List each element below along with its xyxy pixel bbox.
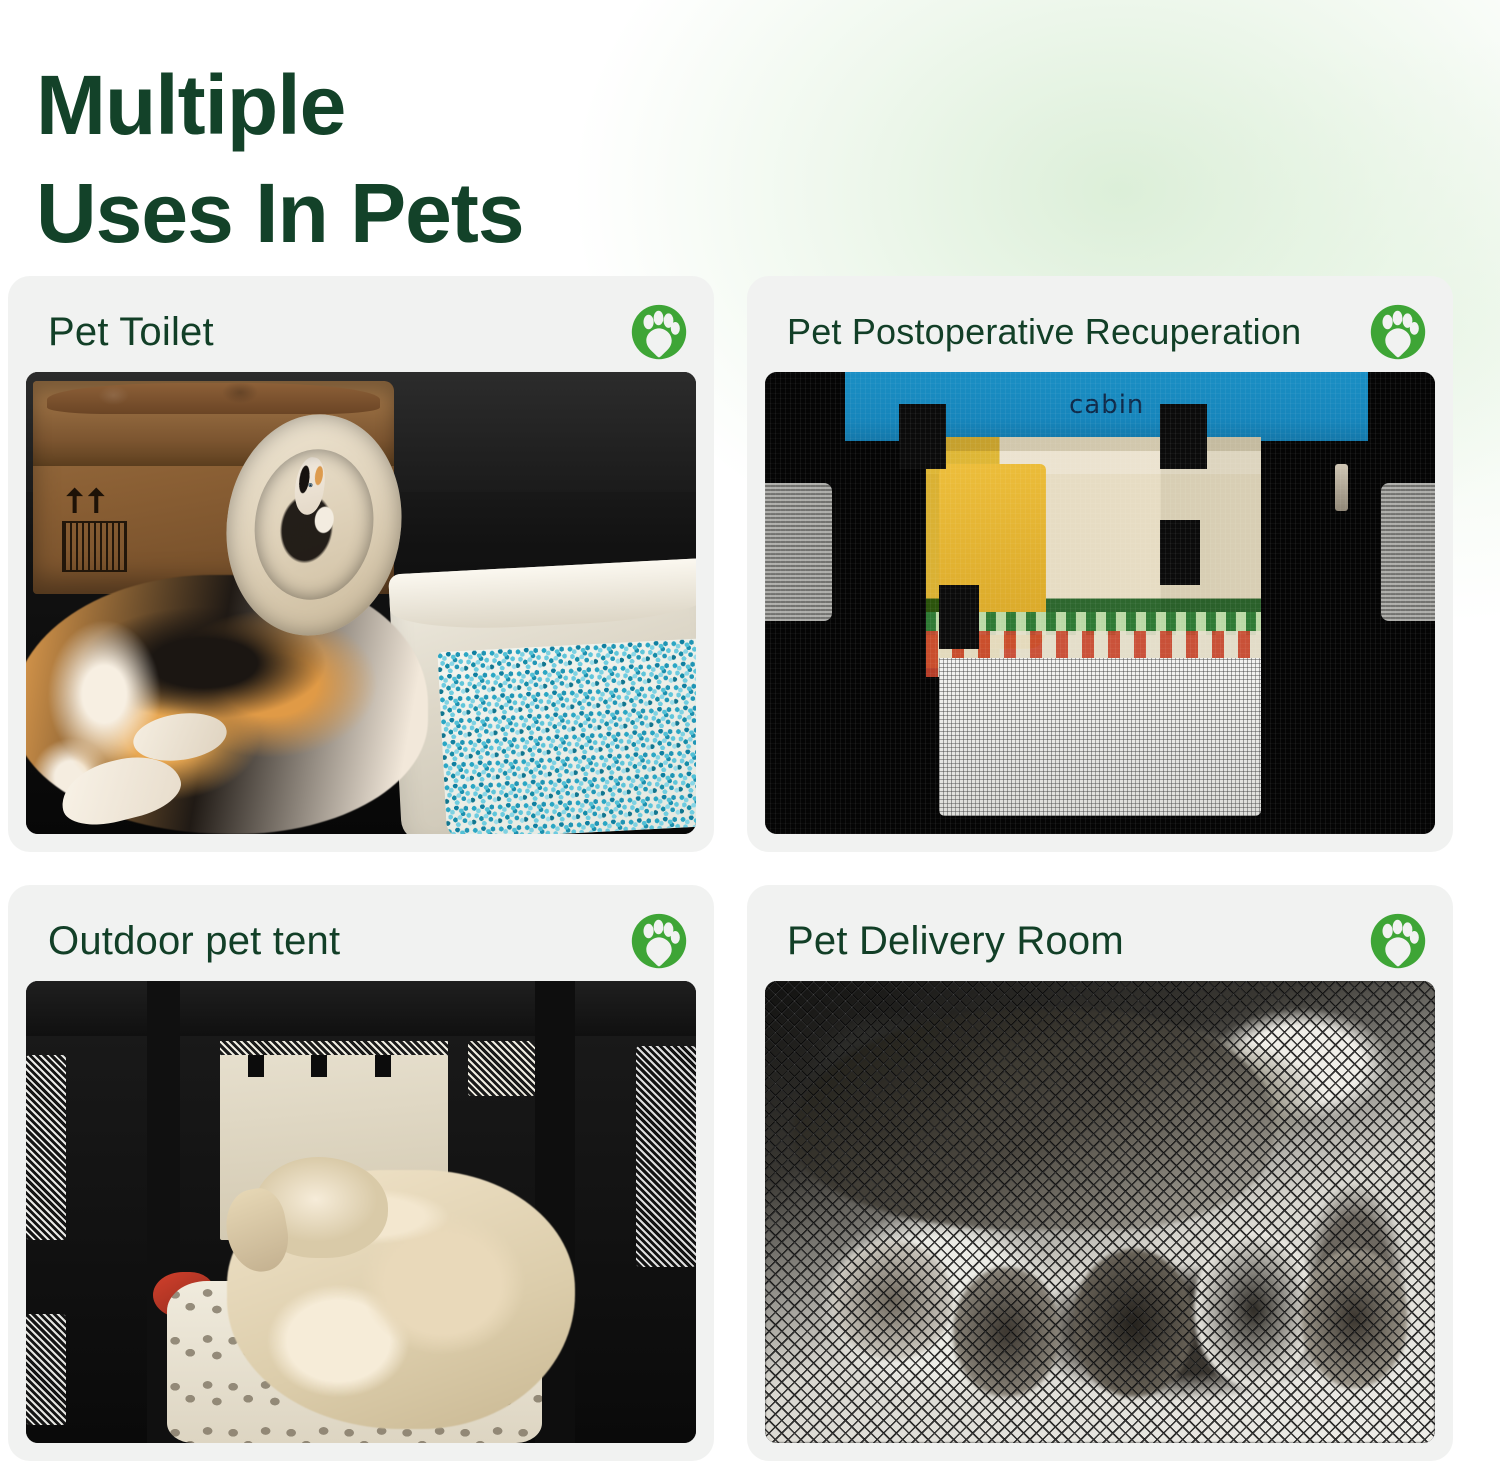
page-title: Multiple Uses In Pets <box>36 52 936 267</box>
card-header: Outdoor pet tent <box>26 901 696 981</box>
photo-pet-toilet <box>26 372 696 834</box>
paw-icon <box>1369 303 1427 361</box>
use-case-card-grid: Pet Toilet <box>8 276 1492 1461</box>
paw-icon <box>1369 912 1427 970</box>
card-header: Pet Toilet <box>26 292 696 372</box>
card-title: Pet Toilet <box>48 310 214 355</box>
card-pet-toilet[interactable]: Pet Toilet <box>8 276 714 852</box>
card-pet-delivery-room[interactable]: Pet Delivery Room <box>747 885 1453 1461</box>
photo-outdoor-pet-tent <box>26 981 696 1443</box>
paw-icon <box>630 912 688 970</box>
page-root: Multiple Uses In Pets Pet Toilet <box>0 0 1500 1466</box>
card-header: Pet Delivery Room <box>765 901 1435 981</box>
card-title: Outdoor pet tent <box>48 919 340 964</box>
photo-pet-delivery-room <box>765 981 1435 1443</box>
photo-pet-postoperative-recuperation: cabin <box>765 372 1435 834</box>
card-title: Pet Postoperative Recuperation <box>787 311 1301 353</box>
card-title: Pet Delivery Room <box>787 919 1124 964</box>
card-pet-postoperative-recuperation[interactable]: Pet Postoperative Recuperation cabin <box>747 276 1453 852</box>
paw-icon <box>630 303 688 361</box>
card-header: Pet Postoperative Recuperation <box>765 292 1435 372</box>
card-outdoor-pet-tent[interactable]: Outdoor pet tent <box>8 885 714 1461</box>
card-photo <box>26 981 696 1443</box>
card-photo <box>765 981 1435 1443</box>
card-photo: cabin <box>765 372 1435 834</box>
card-photo <box>26 372 696 834</box>
